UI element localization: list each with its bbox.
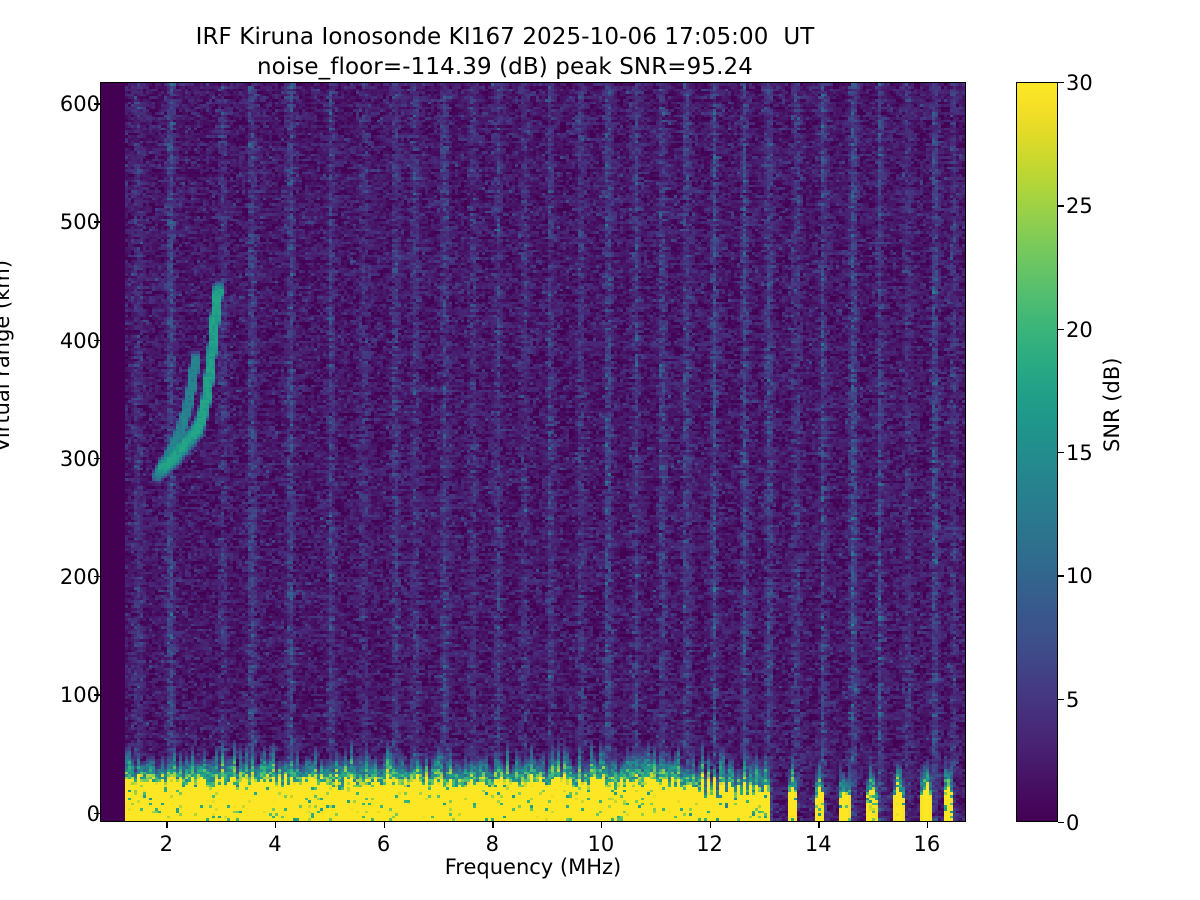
y-tick-mark-0: [94, 813, 100, 814]
colorbar-gradient: [1016, 82, 1058, 822]
ionogram-figure: IRF Kiruna Ionosonde KI167 2025-10-06 17…: [0, 0, 1200, 900]
y-tick-mark-2: [94, 576, 100, 577]
y-axis: 0100200300400500600: [40, 82, 100, 822]
colorbar-tick-mark-2: [1058, 575, 1064, 576]
y-axis-label: Virtual range (km): [0, 260, 14, 452]
colorbar-tick-label-0: 0: [1066, 811, 1079, 835]
x-tick-mark-2: [384, 822, 385, 828]
x-tick-label-6: 14: [788, 832, 848, 856]
colorbar-tick-label-4: 20: [1066, 318, 1093, 342]
y-tick-label-1: 100: [48, 683, 100, 707]
x-tick-label-1: 4: [245, 832, 305, 856]
x-tick-label-4: 10: [571, 832, 631, 856]
ionogram-heatmap[interactable]: [101, 83, 966, 822]
x-tick-label-5: 12: [680, 832, 740, 856]
y-tick-label-6: 600: [48, 92, 100, 116]
y-tick-mark-6: [94, 103, 100, 104]
x-tick-mark-0: [166, 822, 167, 828]
colorbar-tick-label-2: 10: [1066, 564, 1093, 588]
colorbar-label: SNR (dB): [1100, 358, 1124, 452]
y-tick-mark-3: [94, 458, 100, 459]
x-tick-mark-1: [275, 822, 276, 828]
colorbar-tick-mark-6: [1058, 82, 1064, 83]
figure-title: IRF Kiruna Ionosonde KI167 2025-10-06 17…: [0, 22, 1010, 82]
y-tick-mark-5: [94, 221, 100, 222]
x-tick-mark-6: [818, 822, 819, 828]
x-tick-mark-7: [927, 822, 928, 828]
colorbar-tick-mark-1: [1058, 699, 1064, 700]
colorbar-tick-mark-4: [1058, 329, 1064, 330]
x-tick-mark-4: [601, 822, 602, 828]
x-axis-label: Frequency (MHz): [100, 855, 966, 879]
x-tick-label-3: 8: [462, 832, 522, 856]
x-tick-label-2: 6: [354, 832, 414, 856]
title-line-1: IRF Kiruna Ionosonde KI167 2025-10-06 17…: [0, 22, 1010, 52]
y-tick-label-3: 300: [48, 447, 100, 471]
plot-axes[interactable]: [100, 82, 966, 822]
y-tick-label-0: 0: [48, 802, 100, 826]
colorbar-tick-label-5: 25: [1066, 194, 1093, 218]
colorbar-tick-label-1: 5: [1066, 688, 1079, 712]
colorbar-tick-mark-5: [1058, 205, 1064, 206]
colorbar-tick-mark-0: [1058, 822, 1064, 823]
y-tick-label-5: 500: [48, 210, 100, 234]
x-tick-mark-5: [710, 822, 711, 828]
x-axis: 246810121416: [100, 822, 966, 856]
y-tick-label-4: 400: [48, 329, 100, 353]
y-tick-mark-1: [94, 694, 100, 695]
title-line-2: noise_floor=-114.39 (dB) peak SNR=95.24: [0, 52, 1010, 82]
colorbar-tick-label-6: 30: [1066, 71, 1093, 95]
x-tick-label-0: 2: [136, 832, 196, 856]
y-tick-label-2: 200: [48, 565, 100, 589]
x-tick-mark-3: [492, 822, 493, 828]
y-tick-mark-4: [94, 340, 100, 341]
colorbar[interactable]: 051015202530: [1016, 82, 1058, 822]
colorbar-tick-mark-3: [1058, 452, 1064, 453]
colorbar-tick-label-3: 15: [1066, 441, 1093, 465]
x-tick-label-7: 16: [897, 832, 957, 856]
